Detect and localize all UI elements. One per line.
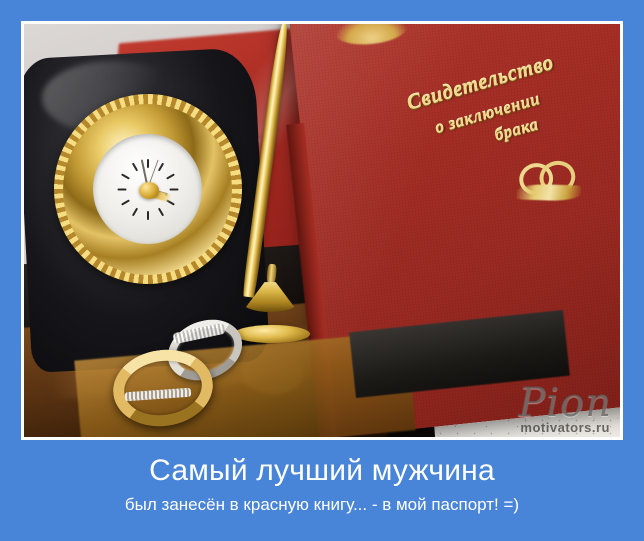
clock-marker-9 [117,188,126,190]
clock-marker-3 [169,188,178,190]
desk-clock [54,94,242,284]
emblem-sprig [516,184,581,202]
caption-subtitle: был занесён в красную книгу... - в мой п… [0,494,644,516]
clock-marker-12 [147,159,149,168]
clock-marker-8 [121,199,130,205]
clock-center-hub [139,182,159,199]
clock-marker-7 [132,207,138,216]
caption-title: Самый лучший мужчина [0,452,644,490]
motivator-poster: Свидетельство о заключении брака [0,0,644,541]
clock-marker-5 [158,207,164,216]
clock-dial [93,134,202,244]
caption-block: Самый лучший мужчина был занесён в красн… [0,444,644,516]
clock-marker-6 [147,211,149,220]
clock-marker-2 [166,173,175,179]
clock-marker-10 [121,173,130,179]
photograph: Свидетельство о заключении брака [24,24,620,437]
clock-marker-1 [158,162,164,171]
clock-marker-11 [132,162,138,171]
photo-frame: Свидетельство о заключении брака [21,21,623,440]
